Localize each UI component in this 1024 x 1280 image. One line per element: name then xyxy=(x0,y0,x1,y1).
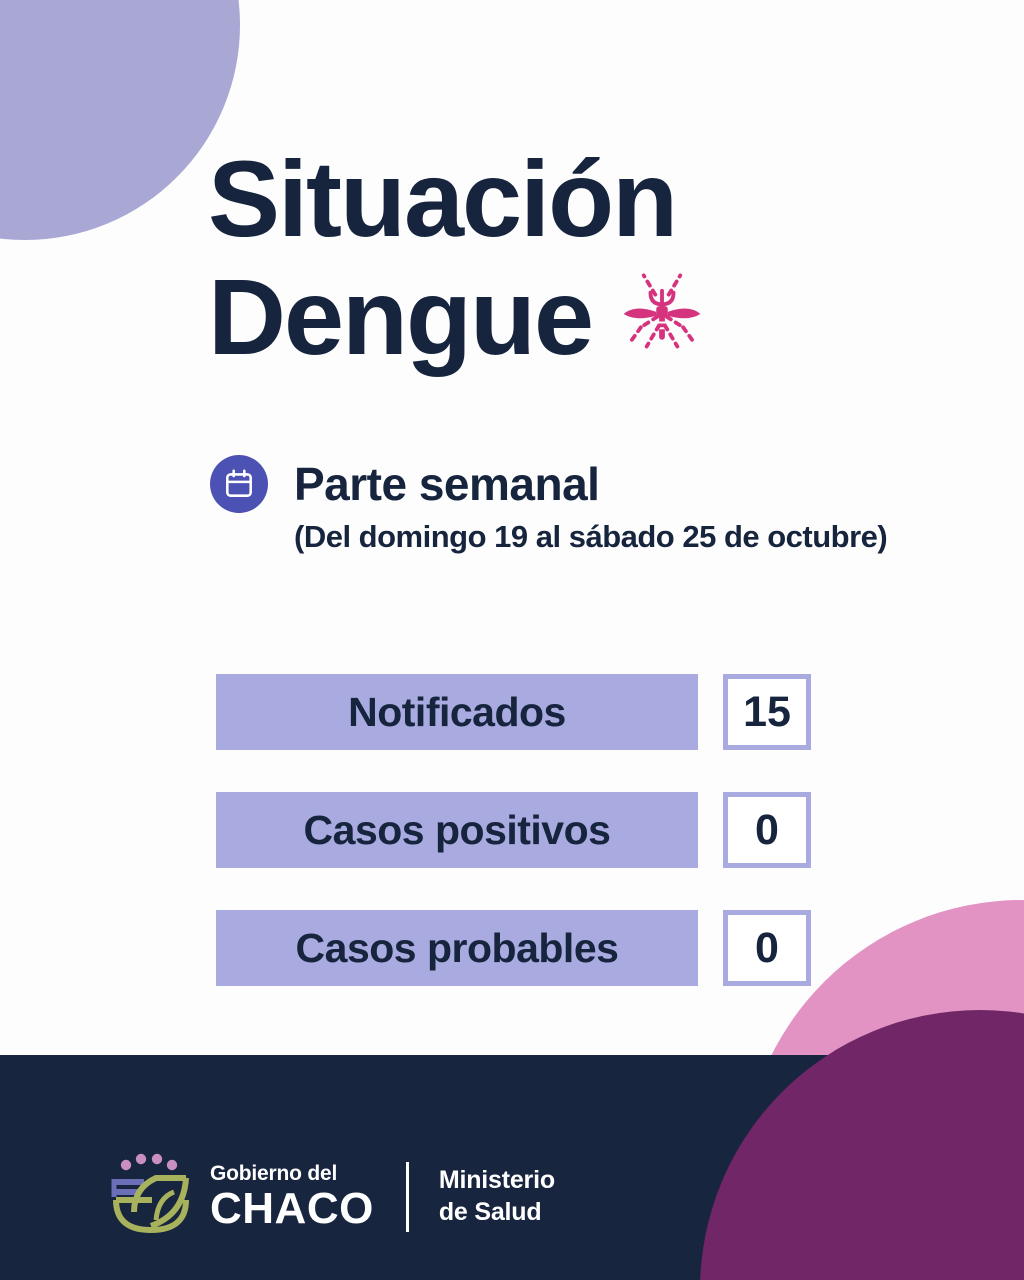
decorative-circle-top-left xyxy=(0,0,240,240)
stat-value: 15 xyxy=(723,674,811,750)
ministry-line-1: Ministerio xyxy=(439,1165,555,1196)
stat-value: 0 xyxy=(723,910,811,986)
mosquito-icon xyxy=(614,262,710,378)
dengue-situation-poster: Situación Dengue xyxy=(0,0,1024,1280)
page-title: Situación Dengue xyxy=(208,142,710,379)
title-line-1: Situación xyxy=(208,142,710,256)
stats-table: Notificados 15 Casos positivos 0 Casos p… xyxy=(216,674,811,986)
calendar-icon xyxy=(210,455,268,513)
footer-branding: Gobierno del CHACO Ministerio de Salud xyxy=(108,1148,555,1245)
gov-line-1: Gobierno del xyxy=(210,1162,374,1186)
weekly-report-header: Parte semanal (Del domingo 19 al sábado … xyxy=(210,455,887,555)
chaco-logo-icon xyxy=(108,1148,194,1245)
stat-value: 0 xyxy=(723,792,811,868)
stat-label: Casos positivos xyxy=(216,792,698,868)
weekly-report-title: Parte semanal xyxy=(294,457,599,511)
subtitle-row: Parte semanal xyxy=(210,455,887,513)
ministry-line-2: de Salud xyxy=(439,1197,555,1228)
title-line-2-row: Dengue xyxy=(208,256,710,378)
stat-label: Notificados xyxy=(216,674,698,750)
title-line-2: Dengue xyxy=(208,260,592,374)
stat-row-notificados: Notificados 15 xyxy=(216,674,811,750)
ministry-wordmark: Ministerio de Salud xyxy=(439,1165,555,1228)
weekly-report-date-range: (Del domingo 19 al sábado 25 de octubre) xyxy=(294,519,887,555)
decorative-circle-purple xyxy=(700,1010,1024,1280)
stat-row-casos-positivos: Casos positivos 0 xyxy=(216,792,811,868)
footer-divider xyxy=(406,1162,409,1232)
stat-label: Casos probables xyxy=(216,910,698,986)
stat-row-casos-probables: Casos probables 0 xyxy=(216,910,811,986)
government-wordmark: Gobierno del CHACO xyxy=(210,1162,374,1231)
gov-line-2: CHACO xyxy=(210,1187,374,1231)
